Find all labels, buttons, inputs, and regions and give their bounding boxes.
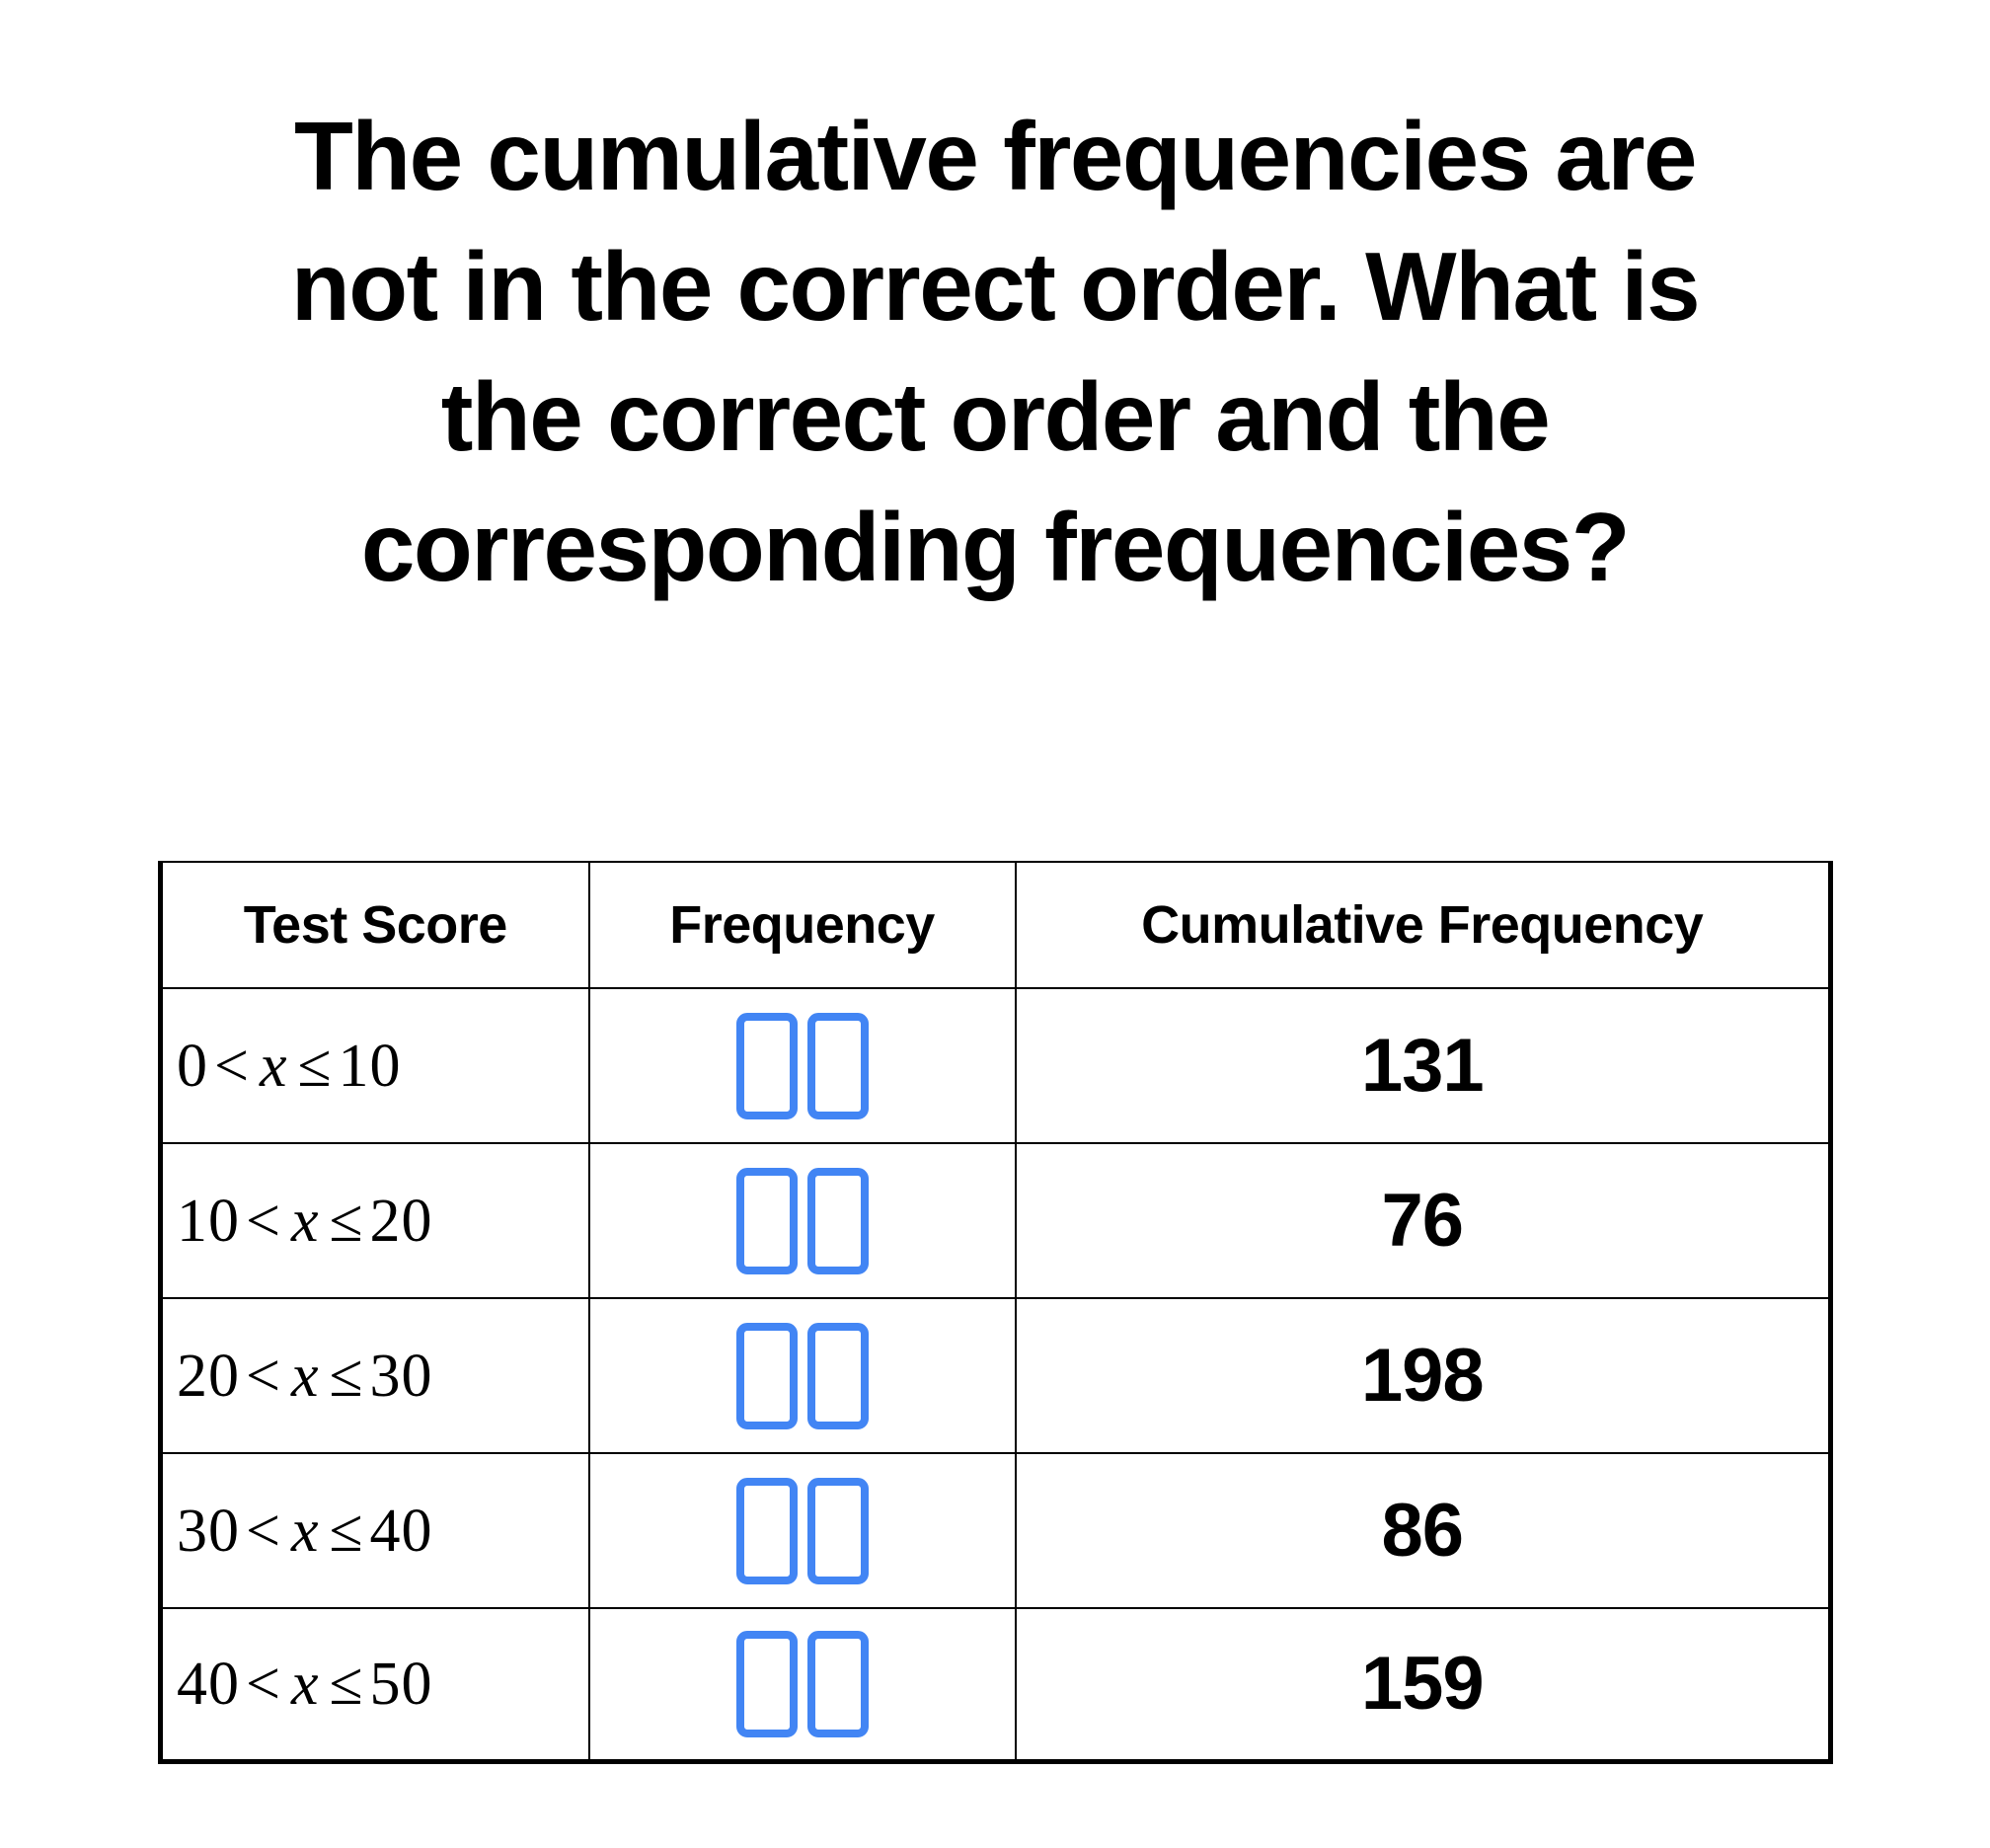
range-lower-bound: 0 [177, 1033, 208, 1100]
frequency-answer-boxes[interactable] [590, 1299, 1015, 1452]
range-operator-left: < [240, 1188, 287, 1255]
range-lower-bound: 20 [177, 1343, 240, 1410]
answer-box-digit-1[interactable] [736, 1478, 798, 1584]
question-line-4: corresponding frequencies? [138, 482, 1852, 612]
question-line-3: the correct order and the [138, 351, 1852, 482]
frequency-answer-boxes[interactable] [590, 1144, 1015, 1297]
frequency-table-container: Test Score Frequency Cumulative Frequenc… [158, 861, 1828, 1764]
test-score-range: 20<x≤30 [177, 1342, 433, 1411]
range-variable: x [287, 1188, 324, 1255]
range-operator-left: < [240, 1498, 287, 1565]
column-header-frequency-label: Frequency [590, 895, 1015, 955]
cumulative-frequency-cell: 131 [1016, 988, 1831, 1143]
answer-box-digit-1[interactable] [736, 1013, 798, 1119]
range-operator-right: ≤ [324, 1651, 370, 1718]
column-header-frequency: Frequency [589, 862, 1016, 988]
range-operator-right: ≤ [324, 1343, 370, 1410]
column-header-cumulative-frequency: Cumulative Frequency [1016, 862, 1831, 988]
range-lower-bound: 10 [177, 1188, 240, 1255]
answer-box-digit-1[interactable] [736, 1631, 798, 1737]
answer-box-digit-2[interactable] [807, 1631, 869, 1737]
question-line-1: The cumulative frequencies are [138, 91, 1852, 221]
table-header: Test Score Frequency Cumulative Frequenc… [161, 862, 1831, 988]
column-header-test-score-label: Test Score [163, 895, 588, 955]
cumulative-frequency-value: 159 [1017, 1643, 1829, 1726]
frequency-cell[interactable] [589, 988, 1016, 1143]
range-operator-right: ≤ [324, 1498, 370, 1565]
answer-box-digit-2[interactable] [807, 1323, 869, 1429]
range-operator-right: ≤ [324, 1188, 370, 1255]
frequency-answer-boxes[interactable] [590, 1454, 1015, 1607]
range-upper-bound: 40 [370, 1498, 433, 1565]
cumulative-frequency-value: 131 [1017, 1025, 1829, 1108]
cumulative-frequency-cell: 198 [1016, 1298, 1831, 1453]
frequency-cell[interactable] [589, 1453, 1016, 1608]
column-header-test-score: Test Score [161, 862, 589, 988]
frequency-table: Test Score Frequency Cumulative Frequenc… [158, 861, 1833, 1764]
range-upper-bound: 20 [370, 1188, 433, 1255]
frequency-answer-boxes[interactable] [590, 989, 1015, 1142]
table-body: 0<x≤10 131 10<x≤20 [161, 988, 1831, 1762]
question-line-2: not in the correct order. What is [138, 221, 1852, 351]
cumulative-frequency-value: 198 [1017, 1335, 1829, 1418]
cumulative-frequency-value: 86 [1017, 1490, 1829, 1573]
range-variable: x [287, 1343, 324, 1410]
test-score-cell: 40<x≤50 [161, 1608, 589, 1762]
test-score-cell: 10<x≤20 [161, 1143, 589, 1298]
answer-box-digit-1[interactable] [736, 1168, 798, 1274]
test-score-range: 0<x≤10 [177, 1032, 402, 1101]
range-operator-left: < [240, 1343, 287, 1410]
answer-box-digit-2[interactable] [807, 1013, 869, 1119]
range-lower-bound: 30 [177, 1498, 240, 1565]
worksheet-page: The cumulative frequencies are not in th… [0, 0, 1990, 1848]
range-variable: x [256, 1033, 292, 1100]
table-row: 10<x≤20 76 [161, 1143, 1831, 1298]
answer-box-digit-2[interactable] [807, 1478, 869, 1584]
table-row: 30<x≤40 86 [161, 1453, 1831, 1608]
test-score-cell: 20<x≤30 [161, 1298, 589, 1453]
cumulative-frequency-cell: 86 [1016, 1453, 1831, 1608]
test-score-cell: 30<x≤40 [161, 1453, 589, 1608]
range-upper-bound: 10 [339, 1033, 402, 1100]
question-prompt: The cumulative frequencies are not in th… [138, 91, 1852, 612]
answer-box-digit-2[interactable] [807, 1168, 869, 1274]
test-score-range: 40<x≤50 [177, 1650, 433, 1719]
frequency-answer-boxes[interactable] [590, 1609, 1015, 1759]
table-row: 0<x≤10 131 [161, 988, 1831, 1143]
test-score-range: 30<x≤40 [177, 1497, 433, 1566]
range-operator-left: < [208, 1033, 256, 1100]
range-variable: x [287, 1498, 324, 1565]
test-score-cell: 0<x≤10 [161, 988, 589, 1143]
frequency-cell[interactable] [589, 1143, 1016, 1298]
cumulative-frequency-value: 76 [1017, 1180, 1829, 1263]
range-operator-left: < [240, 1651, 287, 1718]
frequency-cell[interactable] [589, 1298, 1016, 1453]
answer-box-digit-1[interactable] [736, 1323, 798, 1429]
range-upper-bound: 50 [370, 1651, 433, 1718]
test-score-range: 10<x≤20 [177, 1187, 433, 1256]
range-operator-right: ≤ [292, 1033, 339, 1100]
frequency-cell[interactable] [589, 1608, 1016, 1762]
range-lower-bound: 40 [177, 1651, 240, 1718]
range-variable: x [287, 1651, 324, 1718]
cumulative-frequency-cell: 159 [1016, 1608, 1831, 1762]
table-row: 20<x≤30 198 [161, 1298, 1831, 1453]
column-header-cumulative-frequency-label: Cumulative Frequency [1017, 895, 1829, 955]
table-header-row: Test Score Frequency Cumulative Frequenc… [161, 862, 1831, 988]
cumulative-frequency-cell: 76 [1016, 1143, 1831, 1298]
table-row: 40<x≤50 159 [161, 1608, 1831, 1762]
range-upper-bound: 30 [370, 1343, 433, 1410]
